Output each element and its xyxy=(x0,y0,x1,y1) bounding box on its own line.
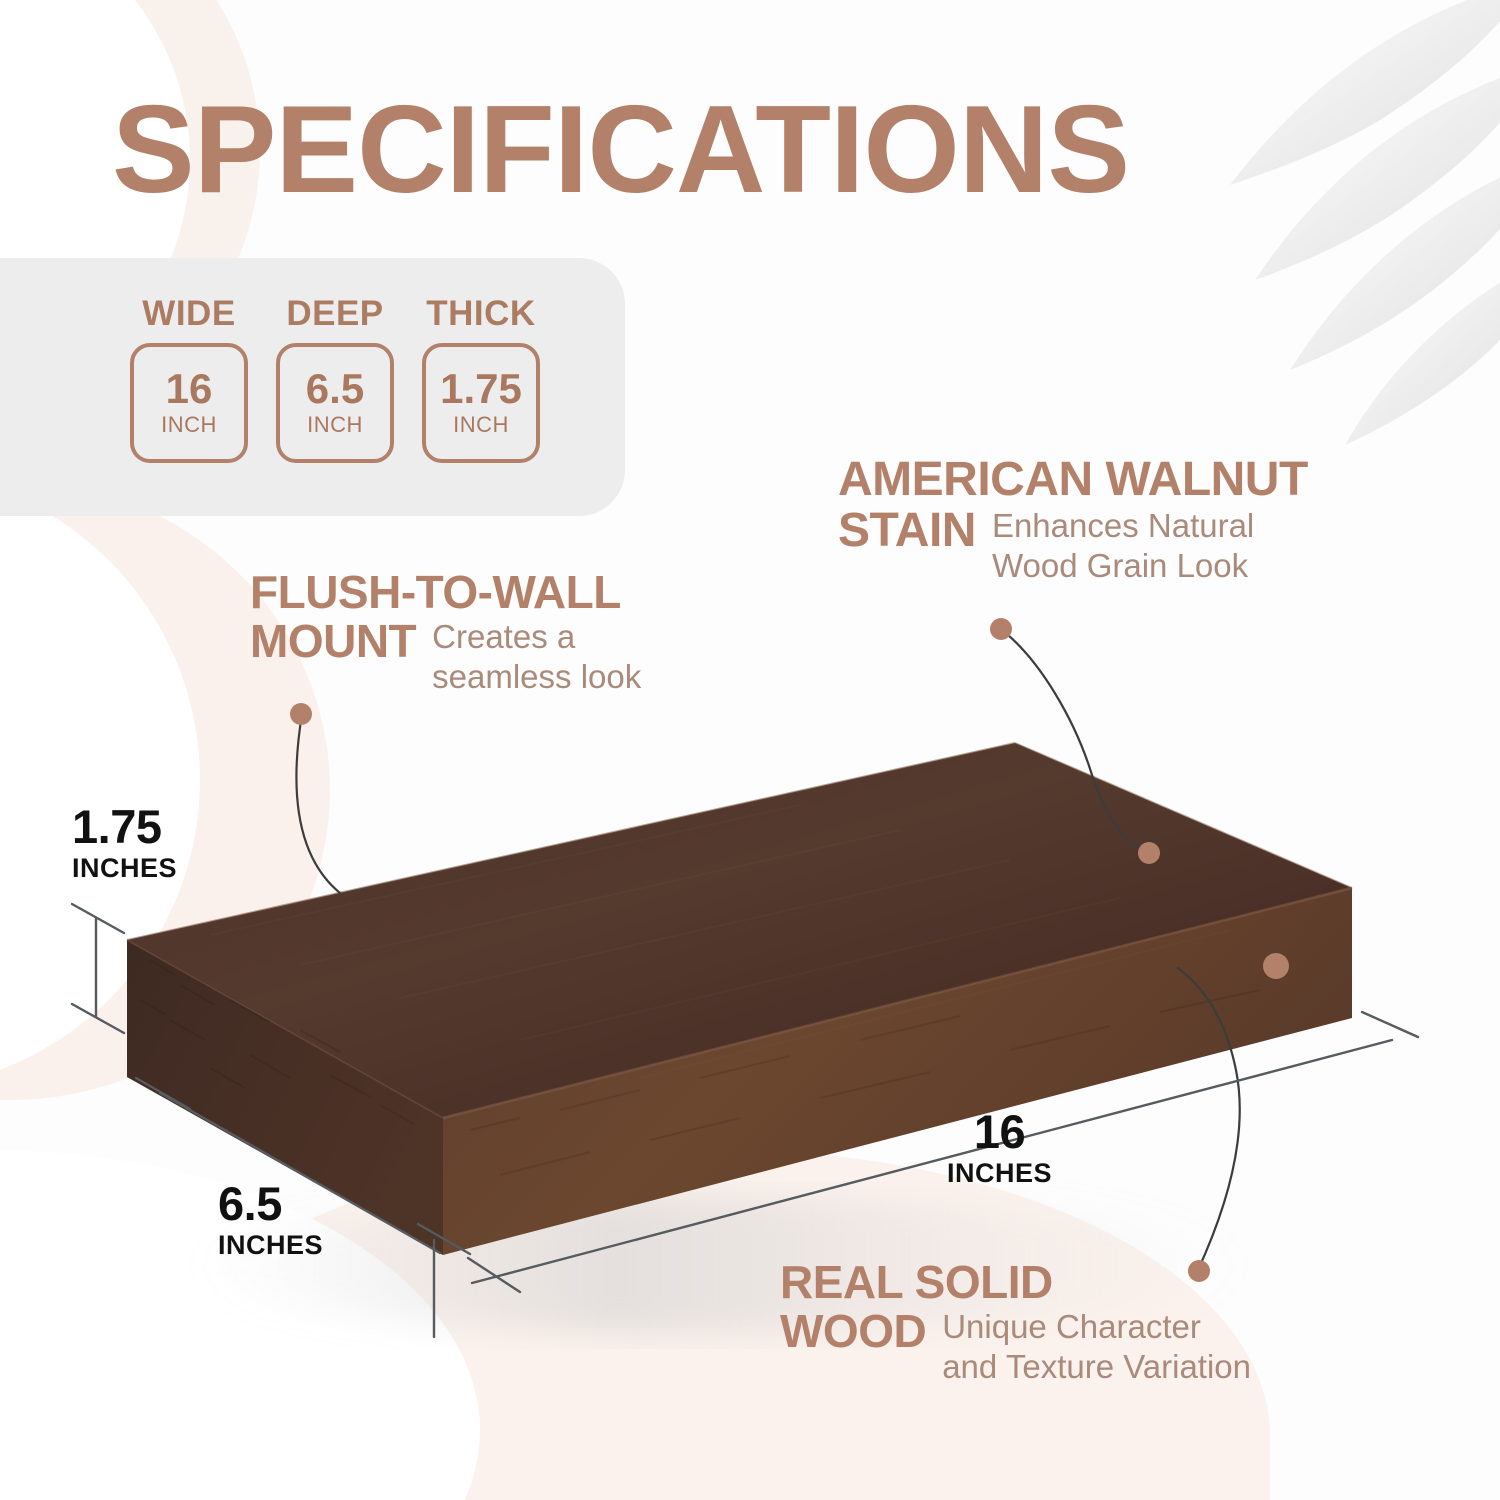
spec-label-wide: WIDE xyxy=(142,294,235,334)
dimension-value-thickness: 1.75 xyxy=(72,803,177,850)
dimension-unit-thickness: INCHES xyxy=(72,853,177,884)
spec-label-thick: THICK xyxy=(426,294,535,334)
spec-panel: WIDE 16 INCH DEEP 6.5 INCH THICK 1.75 IN… xyxy=(0,258,625,516)
spec-value-wide: 16 xyxy=(166,368,213,410)
spec-box-thick: 1.75 INCH xyxy=(422,343,540,463)
callout-walnut-heading-line1: AMERICAN WALNUT xyxy=(838,455,1308,506)
spec-box-wide: 16 INCH xyxy=(130,343,248,463)
spec-item-deep: DEEP 6.5 INCH xyxy=(276,294,394,463)
spec-unit-wide: INCH xyxy=(161,412,217,438)
spec-unit-deep: INCH xyxy=(307,412,363,438)
callout-flush-heading-line2: MOUNT xyxy=(250,617,416,666)
dimension-label-width: 16 INCHES xyxy=(947,1108,1052,1189)
callout-american-walnut-stain: AMERICAN WALNUT STAIN Enhances Natural W… xyxy=(838,455,1308,586)
dimension-value-depth: 6.5 xyxy=(218,1180,323,1227)
callout-flush-heading-line1: FLUSH-TO-WALL xyxy=(250,568,641,617)
callout-wood-sub-line1: Unique Character xyxy=(942,1307,1251,1347)
page-title: SPECIFICATIONS xyxy=(112,88,1129,212)
spec-item-wide: WIDE 16 INCH xyxy=(130,294,248,463)
spec-item-thick: THICK 1.75 INCH xyxy=(422,294,540,463)
dimension-unit-depth: INCHES xyxy=(218,1230,323,1261)
callout-real-solid-wood: REAL SOLID WOOD Unique Character and Tex… xyxy=(780,1258,1251,1387)
spec-value-deep: 6.5 xyxy=(306,368,364,410)
spec-unit-thick: INCH xyxy=(453,412,509,438)
spec-row: WIDE 16 INCH DEEP 6.5 INCH THICK 1.75 IN… xyxy=(130,294,540,463)
callout-wood-sub-line2: and Texture Variation xyxy=(942,1347,1251,1387)
dimension-label-thickness: 1.75 INCHES xyxy=(72,803,177,884)
spec-box-deep: 6.5 INCH xyxy=(276,343,394,463)
spec-value-thick: 1.75 xyxy=(440,368,522,410)
callout-walnut-heading-line2: STAIN xyxy=(838,506,976,557)
dimension-value-width: 16 xyxy=(947,1108,1052,1155)
dimension-unit-width: INCHES xyxy=(947,1158,1052,1189)
walnut-shelf-product-image xyxy=(0,0,1500,1500)
callout-flush-sub-line1: Creates a xyxy=(432,617,641,657)
callout-wood-heading-line1: REAL SOLID xyxy=(780,1258,1251,1307)
callout-flush-sub-line2: seamless look xyxy=(432,657,641,697)
product-specification-infographic: SPECIFICATIONS WIDE 16 INCH DEEP 6.5 INC… xyxy=(0,0,1500,1500)
callout-walnut-sub-line1: Enhances Natural xyxy=(992,506,1254,546)
dimension-label-depth: 6.5 INCHES xyxy=(218,1180,323,1261)
callout-wood-heading-line2: WOOD xyxy=(780,1307,926,1356)
callout-flush-to-wall-mount: FLUSH-TO-WALL MOUNT Creates a seamless l… xyxy=(250,568,641,697)
spec-label-deep: DEEP xyxy=(286,294,383,334)
callout-walnut-sub-line2: Wood Grain Look xyxy=(992,546,1254,586)
